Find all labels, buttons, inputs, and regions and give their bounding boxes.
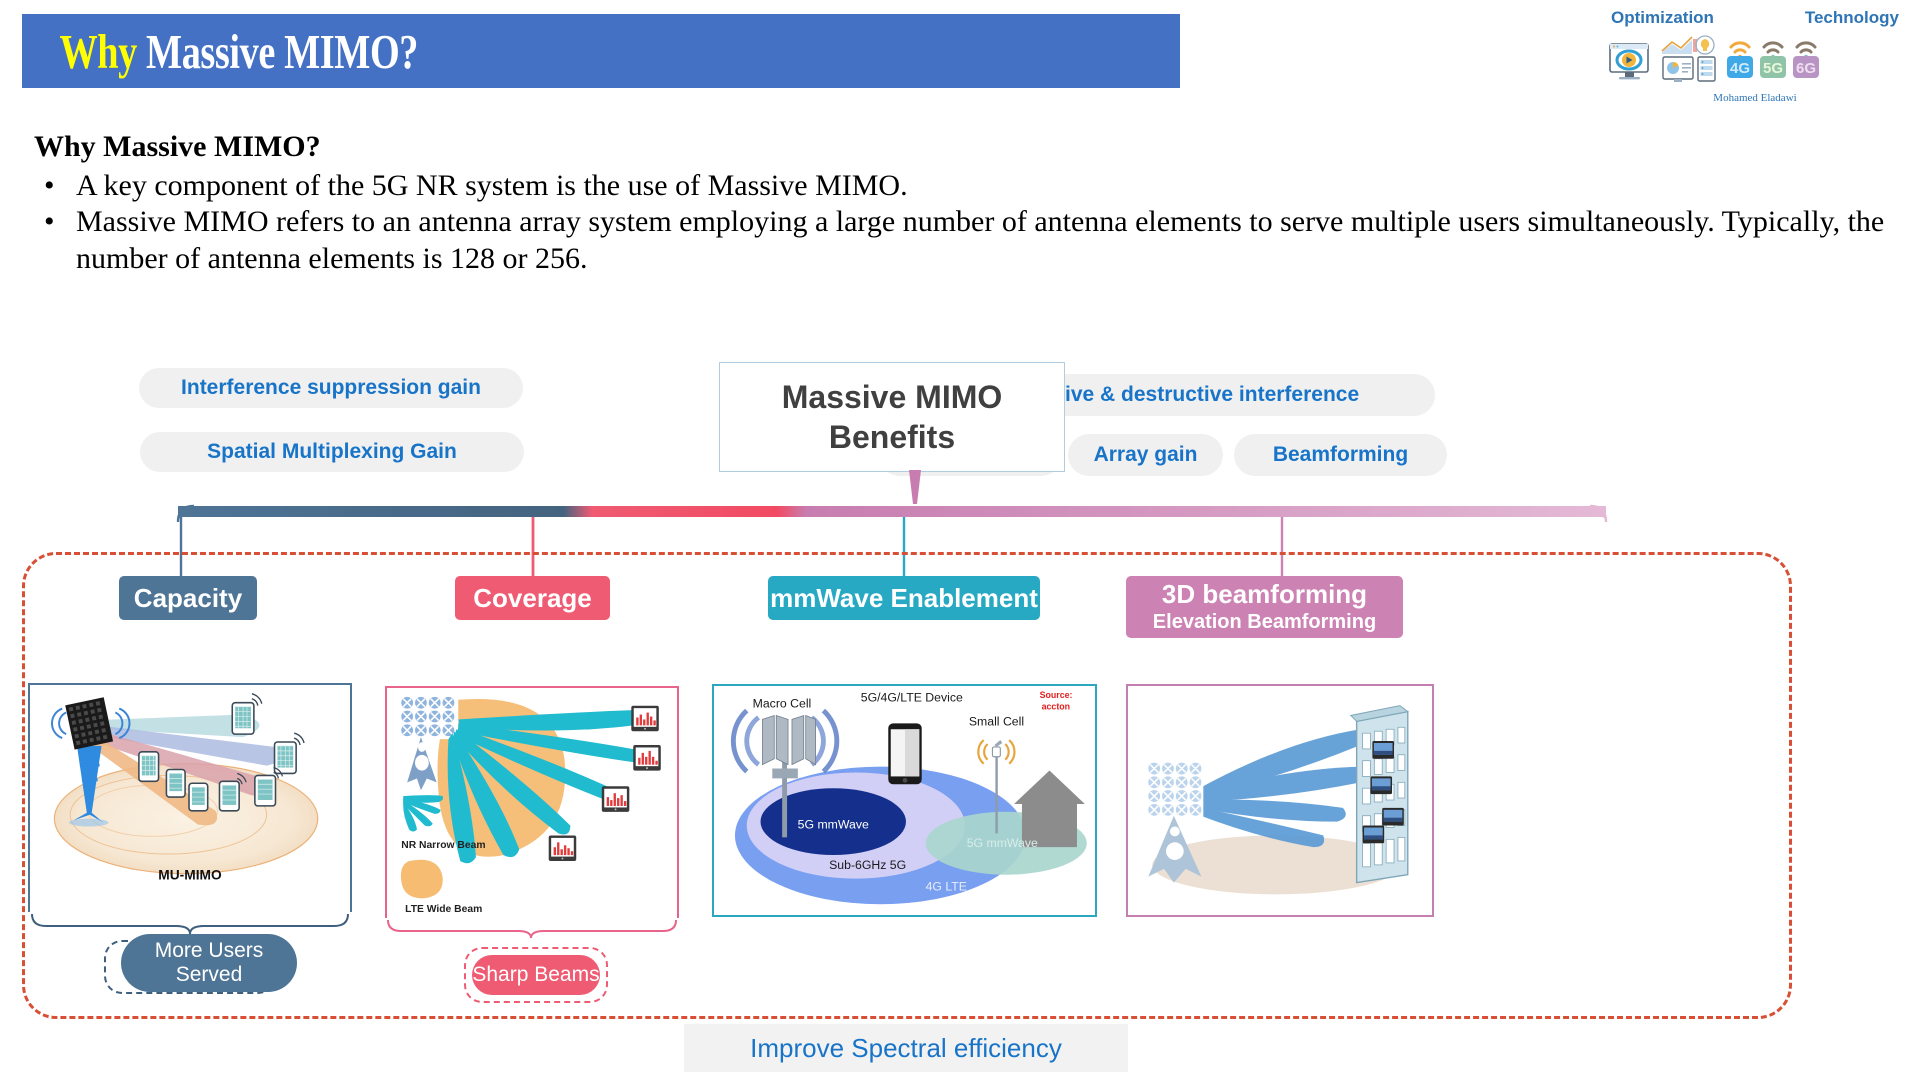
technology-label: Technology <box>1805 8 1899 28</box>
footer-label: Improve Spectral efficiency <box>750 1033 1062 1064</box>
logo-icon-row: 4G 5G 6G <box>1605 33 1905 90</box>
outcome-pill-more-users-served[interactable]: More Users Served <box>121 934 297 992</box>
benefit-pill-spatial-multiplexing[interactable]: Spatial Multiplexing Gain <box>140 432 524 472</box>
panel-3d-beamforming <box>1126 684 1434 917</box>
footer-spectral-efficiency[interactable]: Improve Spectral efficiency <box>684 1024 1128 1072</box>
panel-mmwave-cells: Macro Cell 5G/4G/LTE Device Small Cell S… <box>712 684 1097 917</box>
label-device: 5G/4G/LTE Device <box>861 691 963 705</box>
body-heading: Why Massive MIMO? <box>34 130 1894 164</box>
bullet-text-1: A key component of the 5G NR system is t… <box>76 168 1894 204</box>
category-box-capacity[interactable]: Capacity <box>119 576 257 620</box>
category-subtitle: Elevation Beamforming <box>1153 610 1376 634</box>
panel-caption-mu-mimo: MU-MIMO <box>158 868 222 883</box>
bullet-marker: • <box>34 168 76 204</box>
branding-logo: Optimization Technology <box>1605 8 1905 118</box>
center-box-line2: Benefits <box>829 417 955 457</box>
category-title: mmWave Enablement <box>770 584 1038 613</box>
outcome-label-line2: Served <box>176 963 243 987</box>
legend-nr-narrow-beam: NR Narrow Beam <box>401 840 485 851</box>
category-title: Capacity <box>134 584 242 613</box>
slide-root: Why Massive MIMO? Optimization Technolog… <box>0 0 1919 1079</box>
bullet-text-2: Massive MIMO refers to an antenna array … <box>76 204 1894 277</box>
analytics-dashboard-icon <box>1659 33 1719 90</box>
label-macro-cell: Macro Cell <box>753 697 812 711</box>
svg-text:4G: 4G <box>1730 60 1750 77</box>
category-title: Coverage <box>473 584 592 613</box>
outcome-pill-sharp-beams[interactable]: Sharp Beams <box>472 955 600 995</box>
panel-coverage-beams: NR Narrow Beam LTE Wide Beam <box>385 686 679 922</box>
logo-headings: Optimization Technology <box>1605 8 1905 28</box>
monitor-refresh-icon <box>1607 39 1653 90</box>
panel-capacity-mu-mimo: MU-MIMO <box>28 683 352 915</box>
category-box-coverage[interactable]: Coverage <box>455 576 610 620</box>
benefit-pill-label: Spatial Multiplexing Gain <box>207 440 457 464</box>
coverage-brace <box>385 918 679 940</box>
svg-text:6G: 6G <box>1796 60 1816 77</box>
benefit-pill-label: Interference suppression gain <box>181 376 481 400</box>
label-sub6: Sub-6GHz 5G <box>829 858 906 872</box>
outcome-label-line1: Sharp Beams <box>472 963 599 987</box>
bullet-marker: • <box>34 204 76 277</box>
category-box-3d-beamforming[interactable]: 3D beamforming Elevation Beamforming <box>1126 576 1403 638</box>
generation-badges-icon: 4G 5G 6G <box>1725 33 1827 90</box>
bullet-item-2: • Massive MIMO refers to an antenna arra… <box>34 204 1894 277</box>
benefit-pill-interference-suppression[interactable]: Interference suppression gain <box>139 368 523 408</box>
author-caption: Mohamed Eladawi <box>1605 92 1905 104</box>
label-source-line2: accton <box>1042 702 1070 712</box>
body-copy: Why Massive MIMO? • A key component of t… <box>34 130 1894 277</box>
label-mmwave-macro: 5G mmWave <box>798 818 869 832</box>
label-4g-lte: 4G LTE <box>926 879 967 893</box>
svg-text:5G: 5G <box>1763 60 1783 77</box>
center-box-line1: Massive MIMO <box>782 377 1003 417</box>
label-source-line1: Source: <box>1040 690 1073 700</box>
optimization-label: Optimization <box>1611 8 1714 28</box>
benefit-pill-label: Array gain <box>1094 443 1198 467</box>
title-highlight: Why <box>59 24 146 79</box>
slide-title: Why Massive MIMO? <box>22 23 418 80</box>
title-rest: Massive MIMO? <box>146 24 418 79</box>
category-box-mmwave[interactable]: mmWave Enablement <box>768 576 1040 620</box>
bullet-item-1: • A key component of the 5G NR system is… <box>34 168 1894 204</box>
label-small-cell: Small Cell <box>969 714 1024 728</box>
title-banner: Why Massive MIMO? <box>22 14 1180 88</box>
outcome-label-line1: More Users <box>155 939 264 963</box>
center-benefits-box: Massive MIMO Benefits <box>719 362 1065 472</box>
capacity-brace <box>28 912 352 936</box>
benefit-pill-label: Beamforming <box>1273 443 1408 467</box>
label-mmwave-small: 5G mmWave <box>967 836 1038 850</box>
legend-lte-wide-beam: LTE Wide Beam <box>405 904 482 915</box>
category-title: 3D beamforming <box>1162 580 1367 609</box>
